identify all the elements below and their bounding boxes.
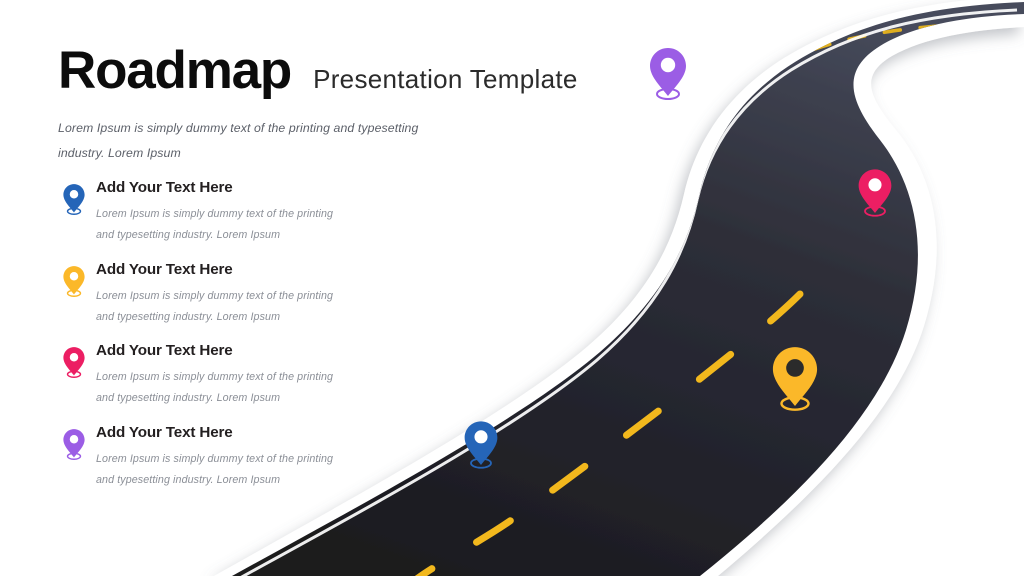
legend-pin-1 — [52, 176, 96, 216]
legend-description-line-2: and typesetting industry. Lorem Ipsum — [96, 388, 333, 409]
legend-description: Lorem Ipsum is simply dummy text of the … — [96, 367, 333, 409]
legend-item-4[interactable]: Add Your Text Here Lorem Ipsum is simply… — [52, 421, 382, 503]
header-description-line-2: industry. Lorem Ipsum — [58, 141, 458, 166]
header-description: Lorem Ipsum is simply dummy text of the … — [58, 116, 458, 166]
legend-description-line-1: Lorem Ipsum is simply dummy text of the … — [96, 286, 333, 307]
legend-pin-2 — [52, 258, 96, 298]
legend-list: Add Your Text Here Lorem Ipsum is simply… — [52, 176, 382, 502]
map-pin-icon — [855, 167, 895, 219]
legend-body-4: Add Your Text Here Lorem Ipsum is simply… — [96, 421, 333, 491]
legend-description-line-1: Lorem Ipsum is simply dummy text of the … — [96, 367, 333, 388]
legend-description-line-1: Lorem Ipsum is simply dummy text of the … — [96, 204, 333, 225]
legend-title: Add Your Text Here — [96, 179, 333, 197]
map-pin-icon — [61, 183, 87, 216]
road-marker-yellow[interactable] — [768, 344, 822, 414]
legend-body-2: Add Your Text Here Lorem Ipsum is simply… — [96, 258, 333, 328]
road-marker-pink[interactable] — [855, 167, 895, 219]
legend-body-1: Add Your Text Here Lorem Ipsum is simply… — [96, 176, 333, 246]
legend-title: Add Your Text Here — [96, 261, 333, 279]
page-title: Roadmap — [58, 44, 291, 97]
legend-description-line-2: and typesetting industry. Lorem Ipsum — [96, 307, 333, 328]
legend-pin-4 — [52, 421, 96, 461]
legend-pin-3 — [52, 339, 96, 379]
map-pin-icon — [768, 344, 822, 414]
legend-item-1[interactable]: Add Your Text Here Lorem Ipsum is simply… — [52, 176, 382, 258]
map-pin-icon — [61, 346, 87, 379]
legend-description-line-2: and typesetting industry. Lorem Ipsum — [96, 225, 333, 246]
legend-description-line-1: Lorem Ipsum is simply dummy text of the … — [96, 449, 333, 470]
legend-body-3: Add Your Text Here Lorem Ipsum is simply… — [96, 339, 333, 409]
map-pin-icon — [461, 419, 501, 471]
legend-title: Add Your Text Here — [96, 424, 333, 442]
map-pin-icon — [61, 265, 87, 298]
legend-description-line-2: and typesetting industry. Lorem Ipsum — [96, 470, 333, 491]
header-description-line-1: Lorem Ipsum is simply dummy text of the … — [58, 116, 458, 141]
road-marker-blue[interactable] — [461, 419, 501, 471]
legend-description: Lorem Ipsum is simply dummy text of the … — [96, 449, 333, 491]
legend-description: Lorem Ipsum is simply dummy text of the … — [96, 286, 333, 328]
page-subtitle: Presentation Template — [313, 66, 578, 92]
legend-title: Add Your Text Here — [96, 342, 333, 360]
legend-description: Lorem Ipsum is simply dummy text of the … — [96, 204, 333, 246]
legend-item-3[interactable]: Add Your Text Here Lorem Ipsum is simply… — [52, 339, 382, 421]
map-pin-icon — [61, 428, 87, 461]
legend-item-2[interactable]: Add Your Text Here Lorem Ipsum is simply… — [52, 258, 382, 340]
title-row: Roadmap Presentation Template — [58, 44, 678, 97]
page-header: Roadmap Presentation Template Lorem Ipsu… — [58, 44, 678, 166]
